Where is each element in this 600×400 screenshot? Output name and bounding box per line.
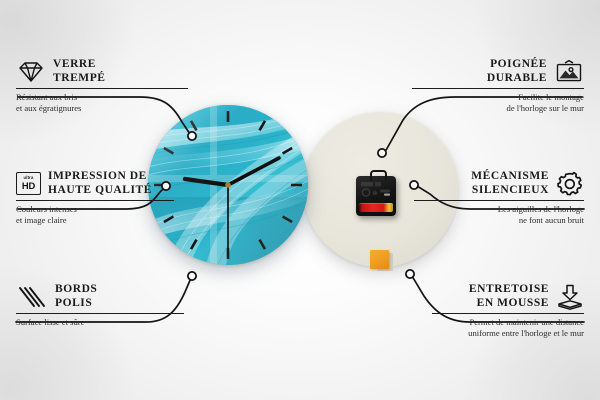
ultra-hd-icon: ultra HD — [16, 172, 41, 195]
callout-subtitle-line2: ne font aucun bruit — [414, 215, 584, 225]
picture-hanger-icon — [554, 60, 584, 84]
callout-impression-haute-qualite: ultra HD IMPRESSION DE HAUTE QUALITÉ Cou… — [16, 170, 174, 225]
callout-verre-trempe: VERRE TREMPÉ Résistant aux bris et aux é… — [16, 58, 188, 113]
diamond-icon — [16, 60, 46, 84]
hands-hub — [225, 182, 231, 188]
battery — [359, 203, 393, 212]
foam-spacer-icon — [556, 284, 584, 310]
foam-spacer — [370, 250, 389, 269]
mechanism-embossing — [360, 181, 392, 198]
callout-title-line1: IMPRESSION DE — [48, 170, 152, 184]
callout-title-line2: EN MOUSSE — [469, 297, 549, 311]
callout-rule — [414, 200, 584, 201]
ultra-hd-big-label: HD — [22, 181, 35, 191]
hanger-tab-icon — [370, 170, 387, 181]
callout-mecanisme-silencieux: MÉCANISME SILENCIEUX Les aiguilles de l'… — [414, 170, 584, 225]
callout-title-line1: VERRE — [53, 58, 106, 72]
callout-title-line2: DURABLE — [487, 72, 547, 86]
callout-title-line2: HAUTE QUALITÉ — [48, 184, 152, 198]
callout-rule — [432, 313, 584, 314]
callout-subtitle-line1: Résistant aux bris — [16, 92, 188, 102]
callout-title-line1: MÉCANISME — [471, 170, 549, 184]
callout-rule — [16, 313, 184, 314]
quartz-mechanism — [356, 176, 396, 216]
callout-subtitle-line1: Surface lisse et sûre — [16, 317, 184, 327]
infographic-stage: VERRE TREMPÉ Résistant aux bris et aux é… — [0, 0, 600, 400]
callout-poignee-durable: POIGNÉE DURABLE Facilite le montage de l… — [412, 58, 584, 113]
callout-subtitle-line2: et aux égratignures — [16, 103, 188, 113]
callout-subtitle-line2: de l'horloge sur le mur — [412, 103, 584, 113]
gear-icon — [556, 171, 584, 197]
callout-title-line1: BORDS — [55, 283, 97, 297]
callout-subtitle-line2: et image claire — [16, 215, 174, 225]
callout-entretoise-en-mousse: ENTRETOISE EN MOUSSE Permet de maintenir… — [432, 283, 584, 338]
callout-title-line2: SILENCIEUX — [471, 184, 549, 198]
callout-subtitle-line2: uniforme entre l'horloge et le mur — [432, 328, 584, 338]
callout-subtitle-line1: Permet de maintenir une distance — [432, 317, 584, 327]
callout-subtitle-line1: Facilite le montage — [412, 92, 584, 102]
callout-bords-polis: BORDS POLIS Surface lisse et sûre — [16, 283, 184, 328]
callout-title-line1: ENTRETOISE — [469, 283, 549, 297]
callout-title-line1: POIGNÉE — [487, 58, 547, 72]
polished-edges-icon — [16, 285, 48, 309]
callout-title-line2: TREMPÉ — [53, 72, 106, 86]
callout-rule — [16, 88, 188, 89]
callout-subtitle-line1: Les aiguilles de l'horloge — [414, 204, 584, 214]
minute-hand — [228, 158, 279, 185]
callout-title-line2: POLIS — [55, 297, 97, 311]
hour-hand — [185, 179, 228, 185]
callout-rule — [16, 200, 174, 201]
callout-subtitle-line1: Couleurs intenses — [16, 204, 174, 214]
callout-rule — [412, 88, 584, 89]
